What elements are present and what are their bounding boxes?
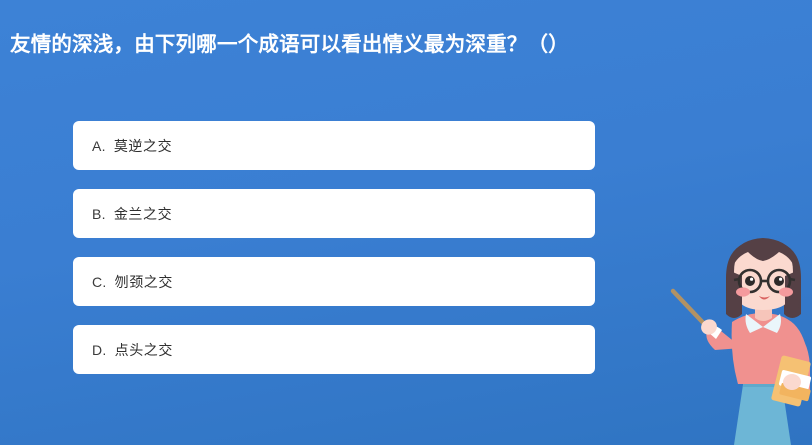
sweater-shape	[732, 313, 808, 384]
option-text-b: 金兰之交	[114, 204, 172, 224]
left-eye-shape	[745, 276, 755, 286]
option-text-a: 莫逆之交	[114, 136, 172, 156]
hair-front-shape	[730, 238, 797, 276]
left-cuff-shape	[705, 326, 722, 339]
right-eye-highlight	[779, 278, 782, 281]
right-eye-shape	[774, 276, 784, 286]
collar-left-shape	[746, 314, 764, 333]
left-blush-shape	[736, 287, 750, 296]
left-eye-highlight	[750, 278, 753, 281]
skirt-waistband	[743, 378, 782, 387]
books-icon	[771, 355, 812, 407]
right-arm-shape	[786, 330, 810, 390]
option-text-d: 点头之交	[115, 340, 173, 360]
quiz-screen: 友情的深浅，由下列哪一个成语可以看出情义最为深重？（） A. 莫逆之交 B. 金…	[0, 0, 812, 445]
option-card-c[interactable]: C. 刎颈之交	[73, 257, 595, 306]
right-ear-shape	[787, 276, 799, 291]
option-letter-a: A.	[92, 138, 106, 154]
option-card-a[interactable]: A. 莫逆之交	[73, 121, 595, 170]
option-card-b[interactable]: B. 金兰之交	[73, 189, 595, 238]
option-letter-c: C.	[92, 274, 107, 290]
teacher-illustration	[660, 230, 812, 445]
question-title: 友情的深浅，由下列哪一个成语可以看出情义最为深重？（）	[10, 30, 690, 60]
left-hand-shape	[698, 317, 719, 338]
option-text-c: 刎颈之交	[115, 272, 173, 292]
left-arm-shape	[706, 328, 742, 351]
pointer-stick-icon	[673, 291, 710, 330]
options-list: A. 莫逆之交 B. 金兰之交 C. 刎颈之交 D. 点头之交	[73, 121, 595, 374]
right-hand-shape	[783, 374, 801, 390]
mouth-shape	[759, 296, 770, 300]
option-letter-b: B.	[92, 206, 106, 222]
hair-right-strand	[785, 270, 801, 315]
face-shape	[734, 242, 793, 310]
skirt-shape	[734, 378, 791, 445]
collar-right-shape	[763, 314, 781, 333]
glasses-icon	[734, 270, 795, 292]
hair-left-strand	[726, 270, 742, 315]
hair-back-shape	[726, 240, 801, 318]
right-blush-shape	[779, 287, 793, 296]
left-ear-shape	[728, 276, 740, 291]
neck-shape	[755, 300, 772, 321]
option-letter-d: D.	[92, 342, 107, 358]
option-card-d[interactable]: D. 点头之交	[73, 325, 595, 374]
